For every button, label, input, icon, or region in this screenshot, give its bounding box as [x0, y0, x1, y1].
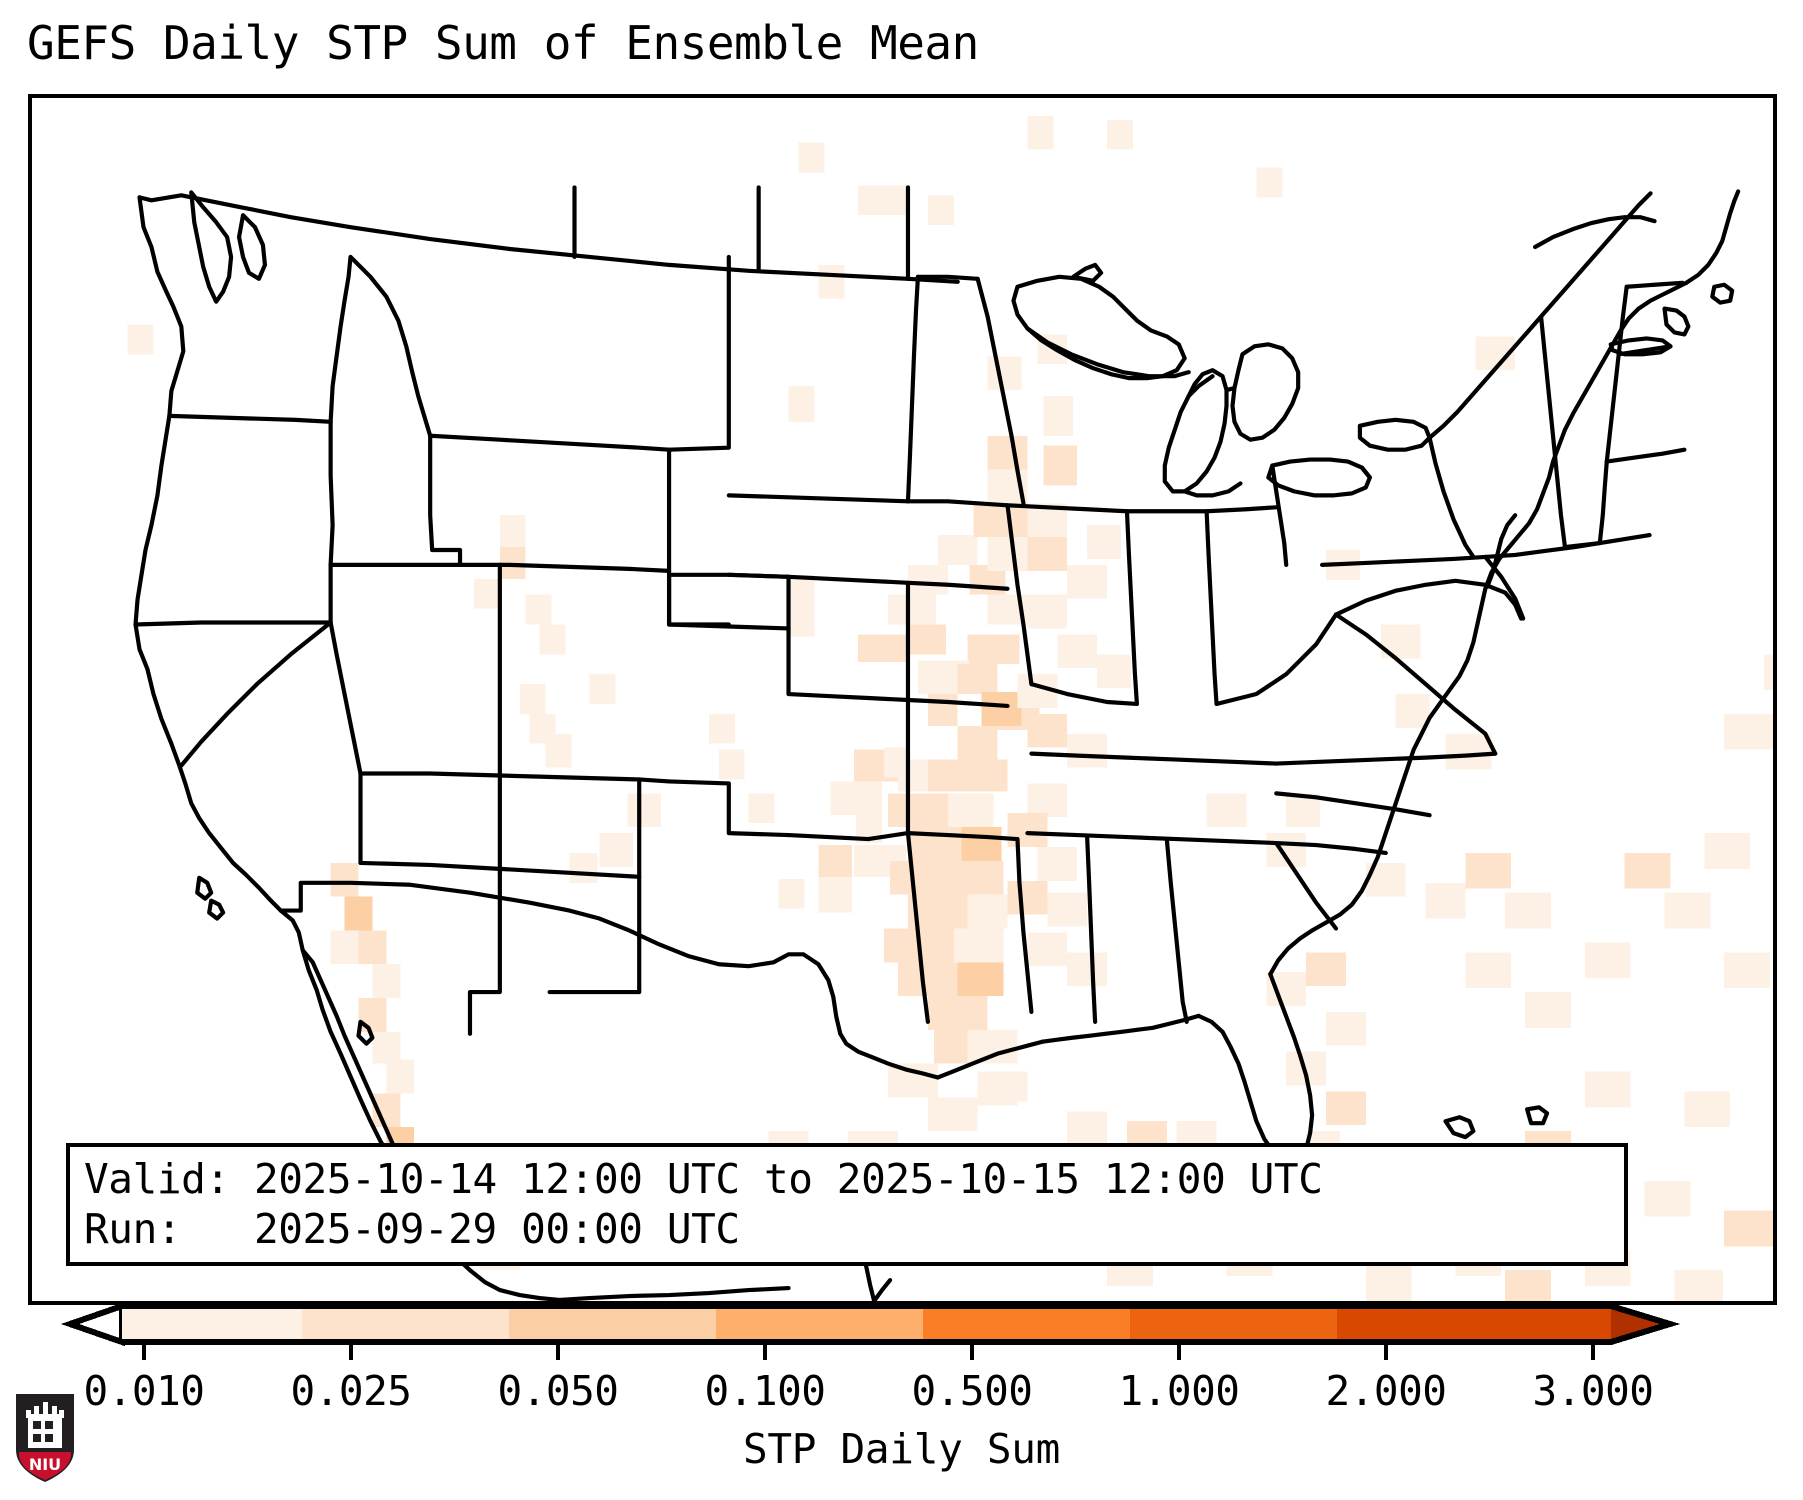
forecast-info-box: Valid: 2025-10-14 12:00 UTC to 2025-10-1…	[66, 1143, 1628, 1266]
colorbar-band-5	[1130, 1306, 1337, 1342]
colorbar-band-4	[923, 1306, 1130, 1342]
colorbar-tick-label-2: 0.050	[498, 1366, 619, 1416]
map-canvas	[32, 98, 1773, 1301]
colorbar-band-1	[302, 1306, 509, 1342]
colorbar	[0, 1296, 1803, 1366]
colorbar-tick-label-6: 2.000	[1326, 1366, 1447, 1416]
colorbar-tick-label-5: 1.000	[1119, 1366, 1240, 1416]
colorbar-band-6	[1337, 1306, 1611, 1342]
colorbar-axis-label: STP Daily Sum	[0, 1424, 1803, 1474]
colorbar-tick-label-4: 0.500	[912, 1366, 1033, 1416]
niu-logo: NIU	[14, 1392, 76, 1484]
niu-logo-text: NIU	[29, 1455, 61, 1474]
colorbar-svg	[0, 1296, 1803, 1366]
colorbar-tick-label-7: 3.000	[1533, 1366, 1654, 1416]
map-boundaries-layer	[32, 98, 1773, 1301]
run-time-line: Run: 2025-09-29 00:00 UTC	[84, 1205, 740, 1253]
valid-time-line: Valid: 2025-10-14 12:00 UTC to 2025-10-1…	[84, 1155, 1323, 1203]
map-plot-area	[28, 94, 1777, 1305]
colorbar-tick-label-3: 0.100	[705, 1366, 826, 1416]
colorbar-band-0	[122, 1306, 302, 1342]
colorbar-tick-label-0: 0.010	[84, 1366, 205, 1416]
page-title: GEFS Daily STP Sum of Ensemble Mean	[27, 14, 979, 72]
colorbar-tick-labels: 0.010 0.025 0.050 0.100 0.500 1.000 2.00…	[0, 1366, 1803, 1426]
colorbar-tick-label-1: 0.025	[291, 1366, 412, 1416]
colorbar-band-2	[509, 1306, 716, 1342]
colorbar-band-3	[716, 1306, 923, 1342]
